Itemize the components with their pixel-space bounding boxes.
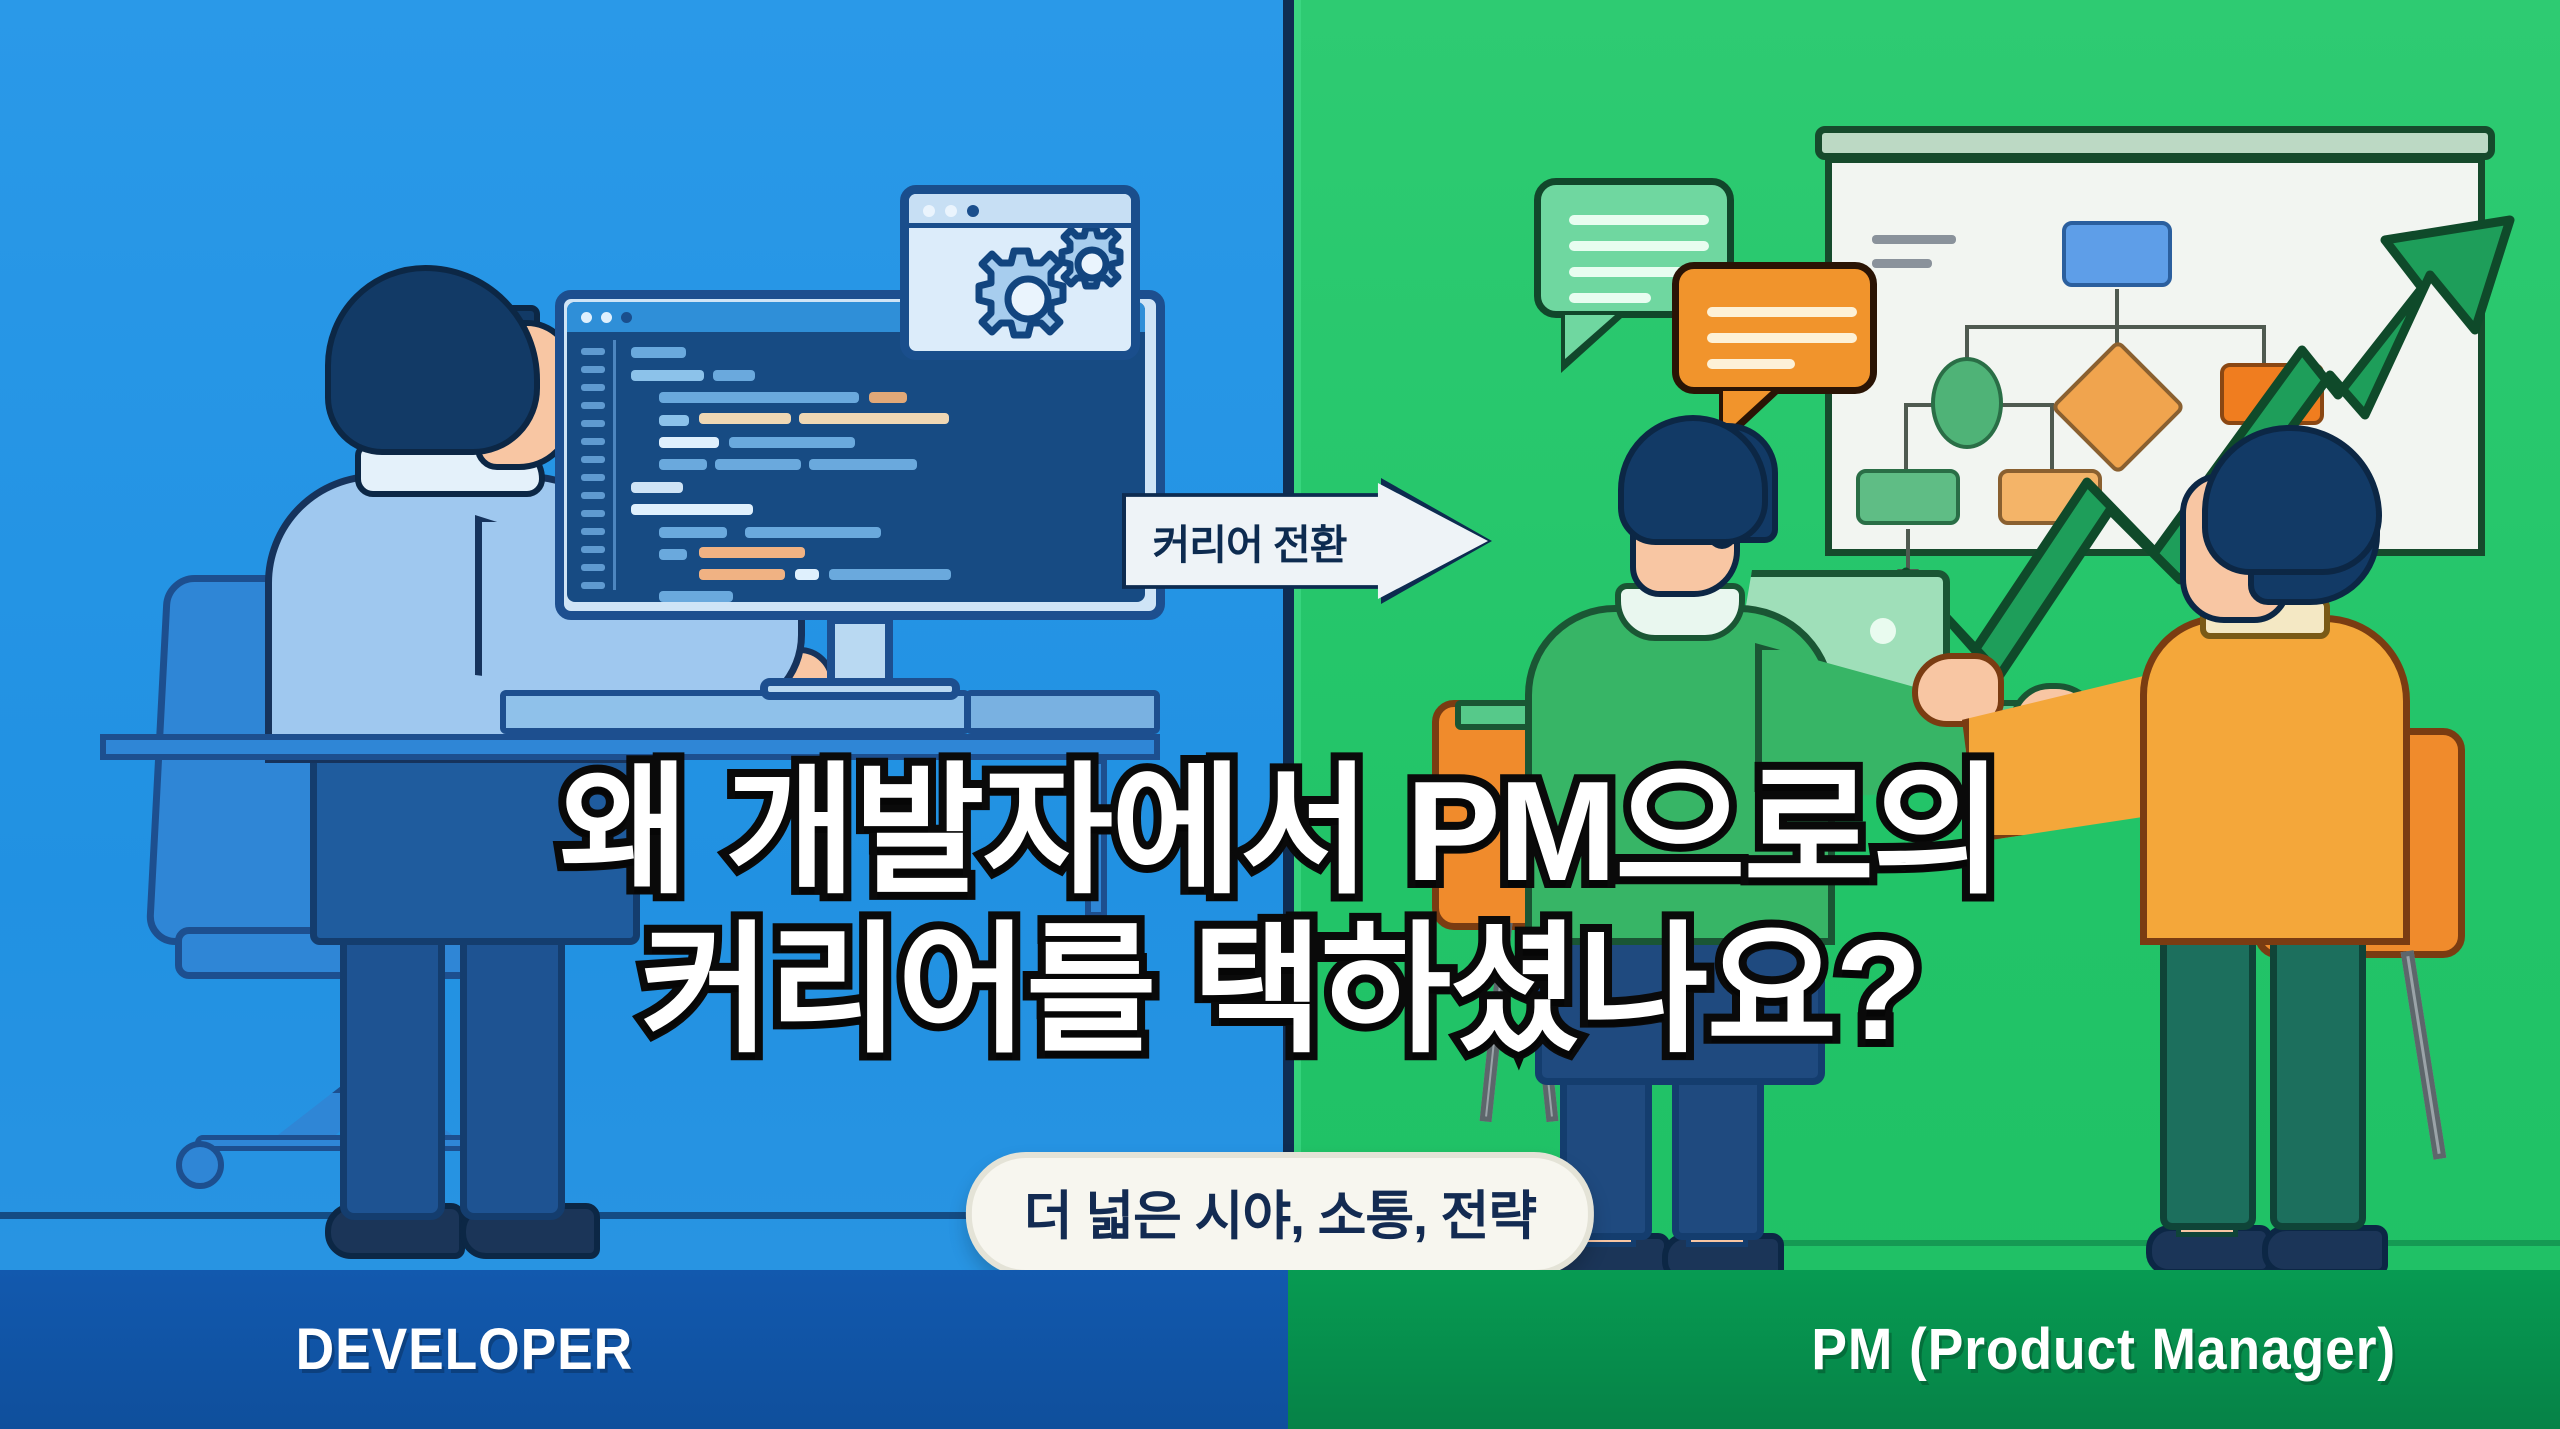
career-transition-arrow: 커리어 전환: [1122, 478, 1492, 604]
settings-window: [900, 185, 1140, 360]
desk-icon: [500, 700, 1160, 880]
developer-label: DEVELOPER: [295, 1316, 632, 1383]
bottom-left-section: DEVELOPER: [0, 1270, 1288, 1429]
pm-figure-orange: [2080, 425, 2540, 1215]
poster-canvas: 커리어 전환: [0, 0, 2560, 1429]
bottom-label-bar: DEVELOPER PM (Product Manager): [0, 1270, 2560, 1429]
pm-figure-green: [1500, 415, 2020, 1215]
gear-icon: [909, 228, 1140, 360]
bottom-right-section: PM (Product Manager): [1288, 1270, 2560, 1429]
speech-bubble-icon: [1672, 262, 1877, 394]
subtitle-pill: 더 넓은 시야, 소통, 전략: [966, 1152, 1594, 1276]
career-transition-label: 커리어 전환: [1122, 478, 1377, 604]
subtitle-text: 더 넓은 시야, 소통, 전략: [1024, 1187, 1536, 1246]
pm-label: PM (Product Manager): [1812, 1316, 2397, 1383]
